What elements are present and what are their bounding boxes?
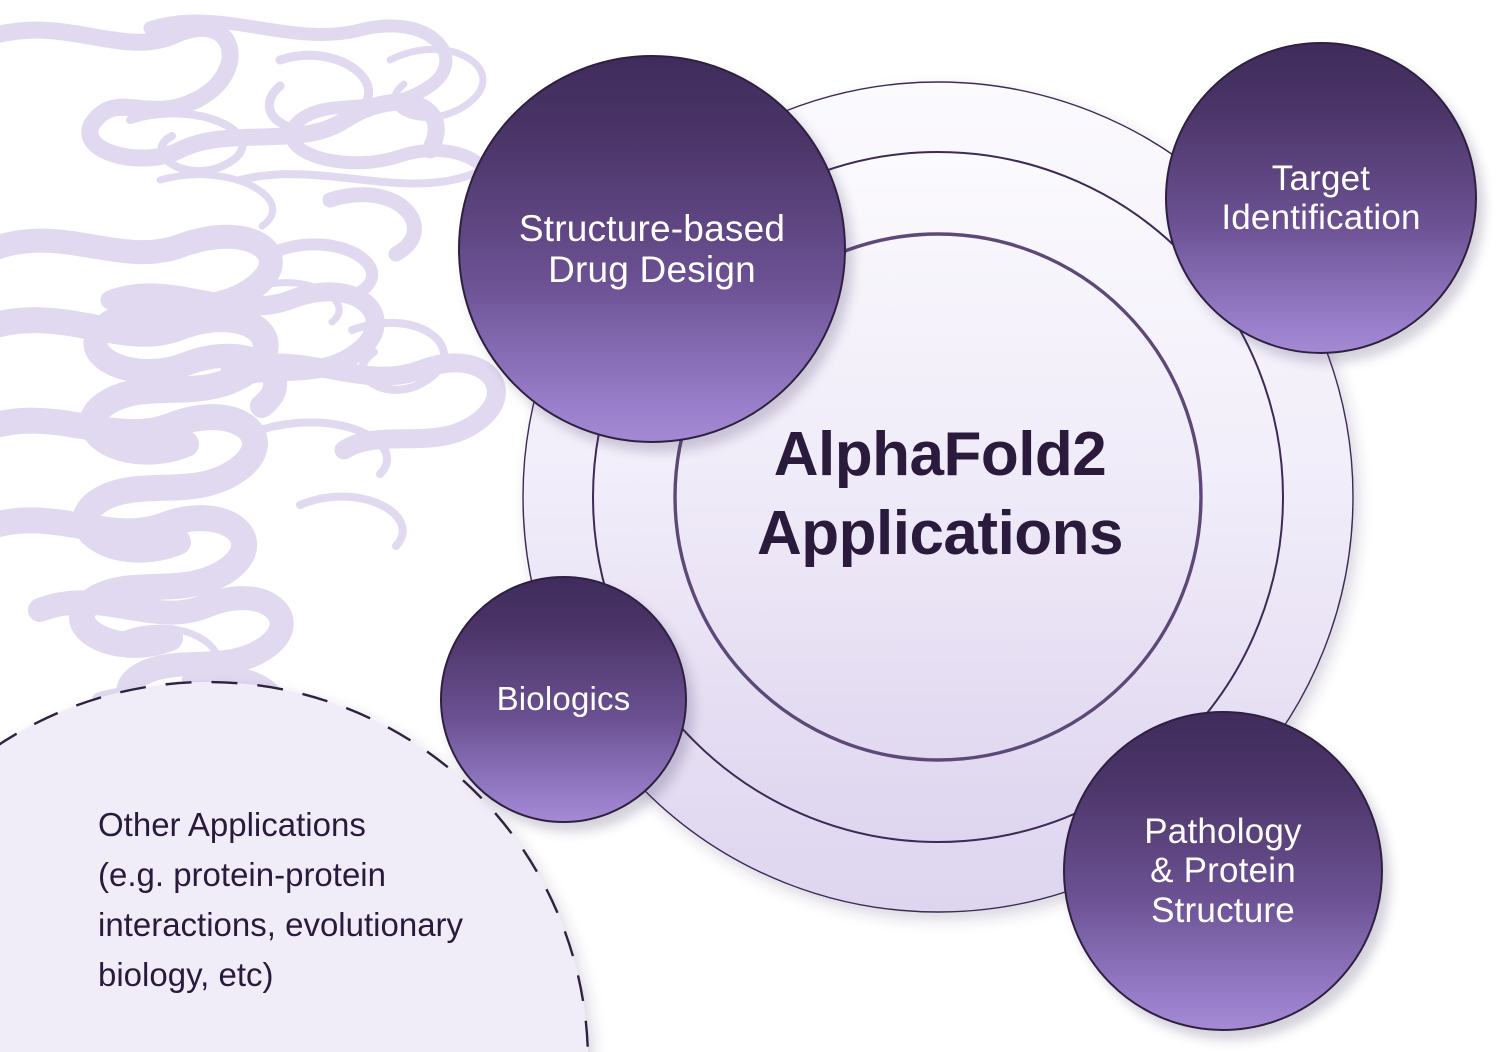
node-biologics-line1: Biologics xyxy=(489,681,639,718)
node-sbdd-line2: Drug Design xyxy=(511,249,793,290)
diagram-canvas: AlphaFold2 Applications Structure-based … xyxy=(0,0,1512,1052)
node-pathology-line2: & Protein xyxy=(1136,851,1309,890)
other-applications-line3: interactions, evolutionary xyxy=(98,900,588,950)
node-pathology-line3: Structure xyxy=(1136,891,1309,930)
node-target-identification[interactable]: Target Identification xyxy=(1165,42,1477,354)
node-pathology-line1: Pathology xyxy=(1136,812,1309,851)
node-structure-based-drug-design[interactable]: Structure-based Drug Design xyxy=(458,55,846,443)
node-target-line1: Target xyxy=(1213,159,1428,198)
other-applications-line2: (e.g. protein-protein xyxy=(98,850,588,900)
node-pathology-and-protein-structure[interactable]: Pathology & Protein Structure xyxy=(1063,711,1383,1031)
other-applications-note: Other Applications (e.g. protein-protein… xyxy=(98,800,588,1001)
node-sbdd-line1: Structure-based xyxy=(511,208,793,249)
other-applications-line4: biology, etc) xyxy=(98,950,588,1000)
node-target-line2: Identification xyxy=(1213,198,1428,237)
node-biologics[interactable]: Biologics xyxy=(440,576,687,823)
